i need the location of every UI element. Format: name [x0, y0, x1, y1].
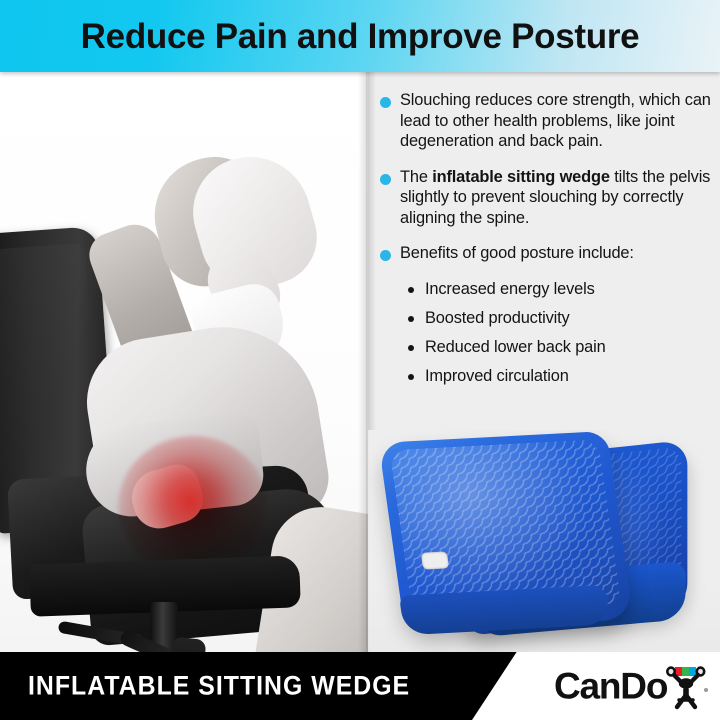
infographic-page: Reduce Pain and Improve Posture: [0, 0, 720, 720]
sub-bullet-item: Reduced lower back pain: [408, 337, 714, 357]
bullet-text-3: Benefits of good posture include:: [400, 243, 634, 264]
bullet-dot-icon: [380, 174, 391, 185]
sub-bullet-item: Boosted productivity: [408, 308, 714, 328]
sub-bullet-dot-icon: [408, 345, 414, 351]
page-title: Reduce Pain and Improve Posture: [81, 19, 640, 54]
bullet-text-2: The inflatable sitting wedge tilts the p…: [400, 167, 714, 229]
sub-bullet-label: Increased energy levels: [425, 279, 595, 299]
sub-bullet-dot-icon: [408, 287, 414, 293]
sub-bullet-label: Improved circulation: [425, 366, 569, 386]
vertical-divider: [366, 72, 369, 652]
bullet-dot-icon: [380, 250, 391, 261]
brand-logo-panel: CanDo ®: [472, 652, 720, 720]
bullet-text-1: Slouching reduces core strength, which c…: [400, 90, 714, 152]
sub-bullet-dot-icon: [408, 374, 414, 380]
brand-name: CanDo: [554, 668, 667, 705]
sub-bullet-item: Improved circulation: [408, 366, 714, 386]
product-photo: [368, 430, 720, 652]
sub-bullet-label: Boosted productivity: [425, 308, 570, 328]
posture-photo-inner: [0, 72, 368, 652]
footer-bar: INFLATABLE SITTING WEDGE CanDo ®: [0, 652, 720, 720]
sub-bullet-label: Reduced lower back pain: [425, 337, 606, 357]
bullet-dot-icon: [380, 97, 391, 108]
bullet-item-2: The inflatable sitting wedge tilts the p…: [380, 167, 714, 229]
product-name-footer: INFLATABLE SITTING WEDGE: [28, 671, 410, 702]
benefits-sub-list: Increased energy levels Boosted producti…: [408, 279, 714, 386]
rainbow-band-red: [431, 652, 572, 720]
bullet-list: Slouching reduces core strength, which c…: [380, 90, 714, 395]
bullet-item-1: Slouching reduces core strength, which c…: [380, 90, 714, 152]
sub-bullet-item: Increased energy levels: [408, 279, 714, 299]
posture-photo: [0, 72, 368, 652]
header-banner: Reduce Pain and Improve Posture: [0, 0, 720, 72]
cando-figure-logo-icon: [662, 664, 710, 710]
sitting-wedge-handle-slot: [421, 551, 449, 569]
bullet-item-3: Benefits of good posture include:: [380, 243, 714, 264]
product-name-emphasis: inflatable sitting wedge: [432, 168, 610, 186]
sub-bullet-dot-icon: [408, 316, 414, 322]
